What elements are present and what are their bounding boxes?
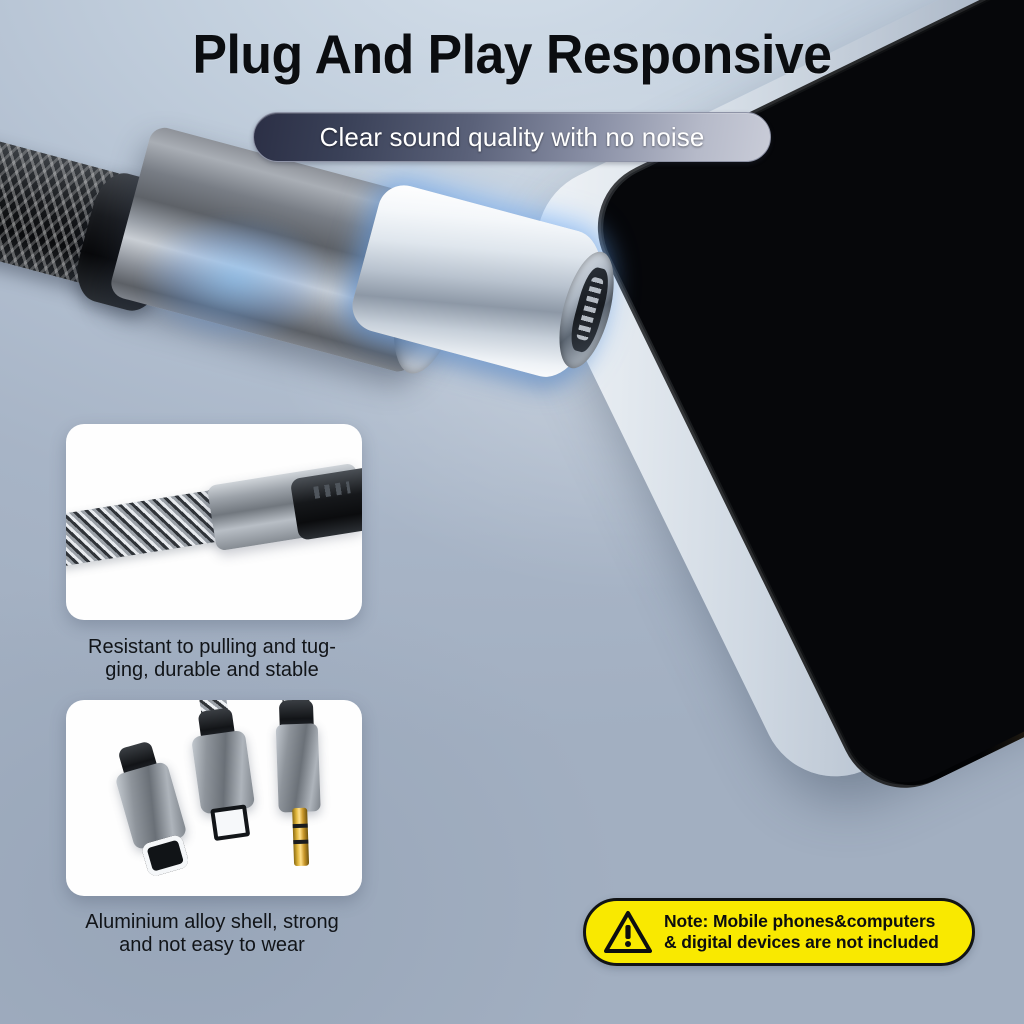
audio-jack-connector bbox=[268, 700, 330, 896]
note-text: Note: Mobile phones&computers & digital … bbox=[664, 911, 939, 952]
braided-cable-icon bbox=[66, 488, 231, 568]
wallpaper-ridge bbox=[827, 212, 1024, 721]
page-title: Plug And Play Responsive bbox=[31, 26, 994, 83]
wallpaper-tree bbox=[840, 384, 991, 594]
audio-jack-tip-icon bbox=[292, 808, 309, 866]
lock-screen-date: 5月8日 星期一 bbox=[867, 148, 979, 326]
lightning-connector bbox=[184, 700, 265, 888]
feature-panel-aluminium bbox=[66, 700, 362, 896]
slide-to-unlock-icon[interactable]: » bbox=[812, 467, 852, 530]
note-badge: Note: Mobile phones&computers & digital … bbox=[583, 898, 975, 966]
wallpaper-tree bbox=[847, 256, 1024, 521]
lightning-tip-icon bbox=[210, 804, 250, 841]
connector-shell bbox=[191, 730, 255, 815]
feature-caption-aluminium: Aluminium alloy shell, strong and not ea… bbox=[52, 911, 372, 957]
feature-caption-durability: Resistant to pulling and tug- ging, dura… bbox=[52, 636, 372, 682]
product-infographic: » 5月8日 星期一 3 Plug And Play Responsive Cl… bbox=[0, 0, 1024, 1024]
subtitle-text: Clear sound quality with no noise bbox=[320, 122, 705, 153]
usb-c-connector bbox=[101, 715, 197, 884]
wallpaper-tree bbox=[934, 289, 1024, 608]
warning-triangle-icon bbox=[604, 910, 652, 954]
feature-panel-durability bbox=[66, 424, 362, 620]
jack-barrel bbox=[276, 723, 321, 812]
lock-screen-clock: 3 bbox=[910, 94, 1024, 194]
subtitle-badge: Clear sound quality with no noise bbox=[253, 112, 771, 162]
